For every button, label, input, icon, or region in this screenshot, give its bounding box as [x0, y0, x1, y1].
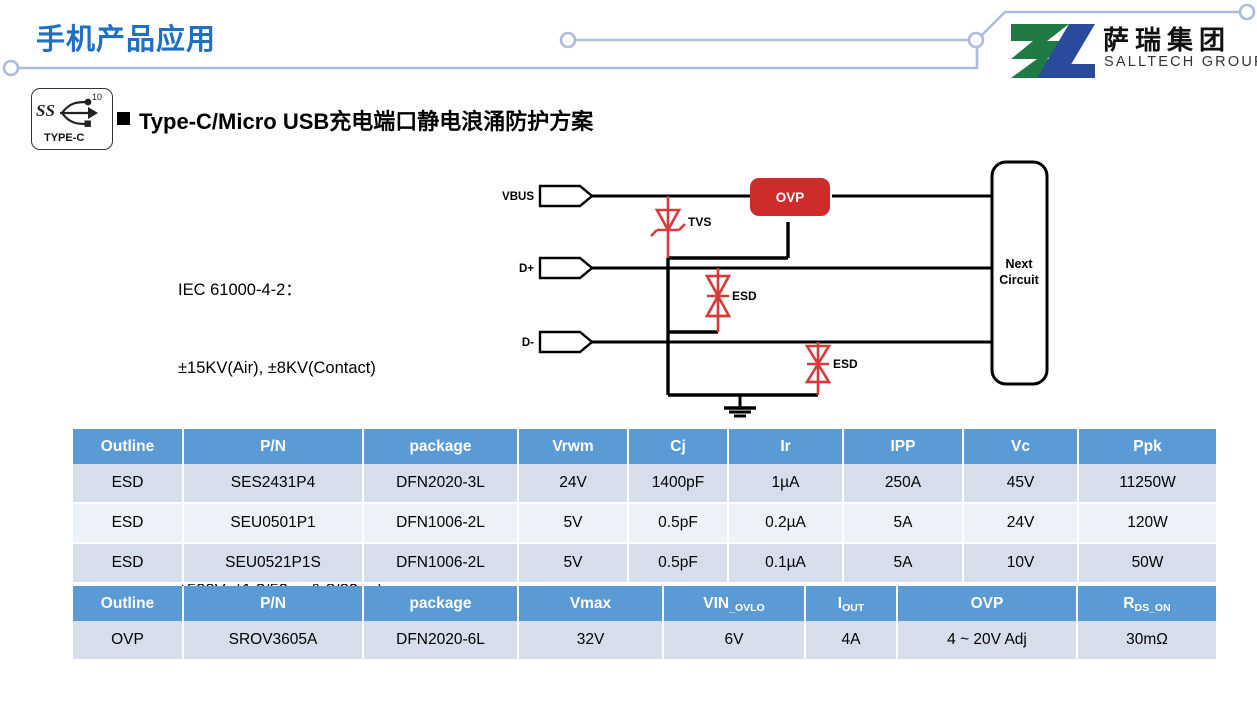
- cell-pn: SEU0521P1S: [183, 543, 363, 583]
- cell-rdson: 30mΩ: [1077, 621, 1216, 660]
- col-vmax[interactable]: Vmax: [518, 586, 663, 621]
- type-c-caption: TYPE-C: [44, 132, 84, 144]
- col-iout[interactable]: IOUT: [805, 586, 897, 621]
- col-rdson[interactable]: RDS_ON: [1077, 586, 1216, 621]
- cell-cj: 0.5pF: [628, 503, 728, 543]
- svg-text:SS: SS: [36, 101, 55, 120]
- cell-ipp: 5A: [843, 543, 963, 583]
- page-title: 手机产品应用: [36, 16, 216, 58]
- port-label-dminus: D-: [522, 337, 534, 349]
- type-c-badge: SS 10 TYPE-C: [31, 88, 113, 150]
- cell-ppk: 11250W: [1078, 464, 1216, 503]
- cell-vmax: 32V: [518, 621, 663, 660]
- ovp-block-label: OVP: [776, 190, 805, 205]
- cell-ir: 1µA: [728, 464, 843, 503]
- cell-ovp: 4 ~ 20V Adj: [897, 621, 1077, 660]
- col-ipp[interactable]: IPP: [843, 429, 963, 464]
- cell-package: DFN1006-2L: [363, 543, 518, 583]
- connector-vbus: [540, 186, 592, 206]
- col-vc[interactable]: Vc: [963, 429, 1078, 464]
- col-pn[interactable]: P/N: [183, 586, 363, 621]
- cell-ir: 0.2µA: [728, 503, 843, 543]
- cell-vrwm: 5V: [518, 543, 628, 583]
- next-circuit-label-2: Circuit: [999, 273, 1039, 287]
- cell-package: DFN2020-6L: [363, 621, 518, 660]
- cell-pn: SROV3605A: [183, 621, 363, 660]
- cell-package: DFN2020-3L: [363, 464, 518, 503]
- cell-pn: SEU0501P1: [183, 503, 363, 543]
- spec-line-1: IEC 61000-4-2：: [178, 277, 392, 303]
- tvs-label: TVS: [688, 215, 711, 229]
- cell-outline: ESD: [73, 464, 183, 503]
- cell-package: DFN1006-2L: [363, 503, 518, 543]
- usb-speed-label: 10: [92, 92, 102, 102]
- section-heading: Type-C/Micro USB充电端口静电浪涌防护方案: [139, 104, 593, 136]
- table-row: ESD SEU0501P1 DFN1006-2L 5V 0.5pF 0.2µA …: [73, 503, 1216, 543]
- brand-logo: 萨瑞集团 SALLTECH GROUP: [1007, 20, 1252, 82]
- cell-ipp: 5A: [843, 503, 963, 543]
- cell-vc: 10V: [963, 543, 1078, 583]
- logo-name-cn: 萨瑞集团: [1103, 20, 1231, 57]
- usb-superspeed-icon: SS 10 TYPE-C: [32, 89, 110, 147]
- cell-vc: 24V: [963, 503, 1078, 543]
- connector-dplus: [540, 258, 592, 278]
- logo-name-en: SALLTECH GROUP: [1104, 54, 1257, 70]
- cell-pn: SES2431P4: [183, 464, 363, 503]
- spec-line-2: ±15KV(Air), ±8KV(Contact): [178, 355, 392, 381]
- table-header-row: Outline P/N package Vrwm Cj Ir IPP Vc Pp…: [73, 429, 1216, 464]
- esd-label-2: ESD: [833, 357, 858, 371]
- cell-outline: OVP: [73, 621, 183, 660]
- col-ppk[interactable]: Ppk: [1078, 429, 1216, 464]
- esd-parameter-table: Outline P/N package Vrwm Cj Ir IPP Vc Pp…: [73, 429, 1216, 584]
- col-pn[interactable]: P/N: [183, 429, 363, 464]
- section-bullet-icon: [117, 112, 130, 125]
- port-label-vbus: VBUS: [502, 191, 534, 203]
- cell-cj: 1400pF: [628, 464, 728, 503]
- cell-cj: 0.5pF: [628, 543, 728, 583]
- cell-vrwm: 24V: [518, 464, 628, 503]
- table-row: ESD SES2431P4 DFN2020-3L 24V 1400pF 1µA …: [73, 464, 1216, 503]
- cell-outline: ESD: [73, 543, 183, 583]
- protection-circuit-diagram: VBUS D+ D- TVS ESD ESD OVP GND Next Circ…: [500, 150, 1080, 420]
- col-vin-ovlo[interactable]: VIN_OVLO: [663, 586, 805, 621]
- cell-ir: 0.1µA: [728, 543, 843, 583]
- cell-iout: 4A: [805, 621, 897, 660]
- salltech-logo-icon: [1007, 22, 1099, 80]
- cell-vrwm: 5V: [518, 503, 628, 543]
- cell-ppk: 50W: [1078, 543, 1216, 583]
- next-circuit-label-1: Next: [1005, 257, 1033, 271]
- col-cj[interactable]: Cj: [628, 429, 728, 464]
- col-vrwm[interactable]: Vrwm: [518, 429, 628, 464]
- table-header-row: Outline P/N package Vmax VIN_OVLO IOUT O…: [73, 586, 1216, 621]
- cell-ipp: 250A: [843, 464, 963, 503]
- cell-vc: 45V: [963, 464, 1078, 503]
- ovp-parameter-table: Outline P/N package Vmax VIN_OVLO IOUT O…: [73, 586, 1216, 661]
- cell-ppk: 120W: [1078, 503, 1216, 543]
- port-label-dplus: D+: [519, 263, 534, 275]
- col-ovp[interactable]: OVP: [897, 586, 1077, 621]
- connector-dminus: [540, 332, 592, 352]
- esd-label-1: ESD: [732, 289, 757, 303]
- col-outline[interactable]: Outline: [73, 586, 183, 621]
- col-package[interactable]: package: [363, 586, 518, 621]
- cell-outline: ESD: [73, 503, 183, 543]
- table-row: ESD SEU0521P1S DFN1006-2L 5V 0.5pF 0.1µA…: [73, 543, 1216, 583]
- cell-vin-ovlo: 6V: [663, 621, 805, 660]
- col-outline[interactable]: Outline: [73, 429, 183, 464]
- col-package[interactable]: package: [363, 429, 518, 464]
- col-ir[interactable]: Ir: [728, 429, 843, 464]
- table-row: OVP SROV3605A DFN2020-6L 32V 6V 4A 4 ~ 2…: [73, 621, 1216, 660]
